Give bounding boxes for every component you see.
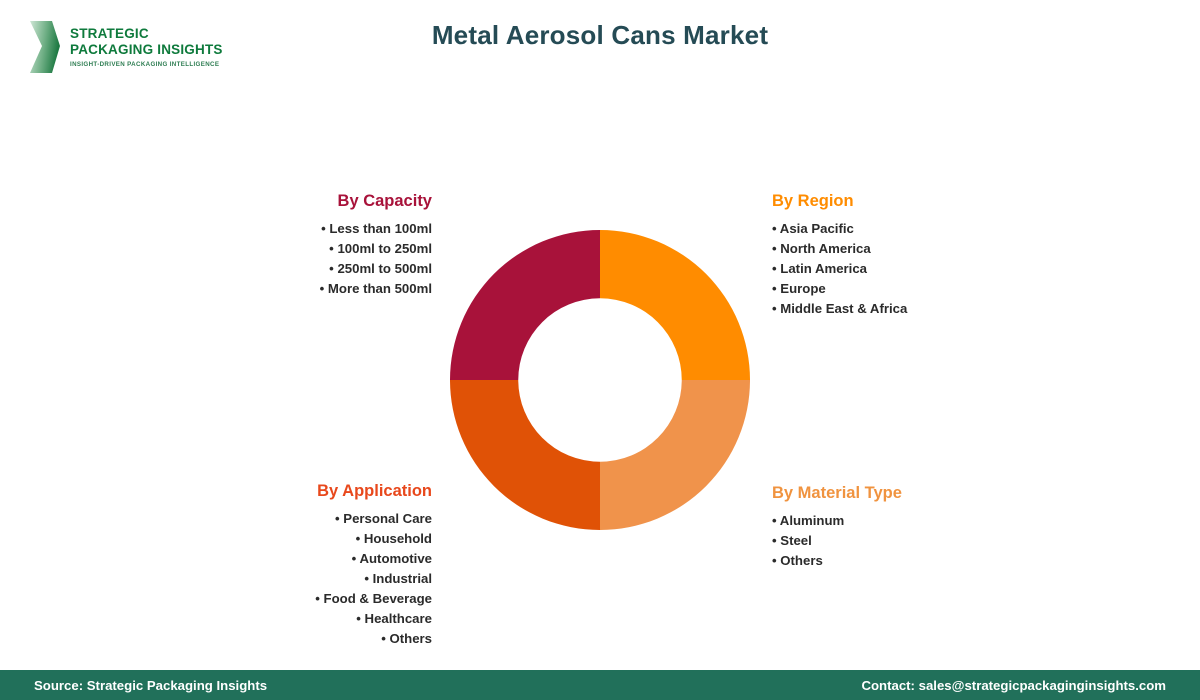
list-item: Automotive [180,549,432,569]
donut-slice [450,230,600,380]
segment-list-application: Personal CareHouseholdAutomotiveIndustri… [180,509,432,649]
footer-source: Source: Strategic Packaging Insights [34,678,267,693]
list-item: Healthcare [180,609,432,629]
segment-block-application: By Application Personal CareHouseholdAut… [180,482,432,649]
segment-title-material-type: By Material Type [772,484,1012,504]
list-item: Less than 100ml [230,219,432,239]
donut-slice [600,230,750,380]
list-item: 250ml to 500ml [230,259,432,279]
list-item: Personal Care [180,509,432,529]
list-item: Steel [772,531,1012,551]
list-item: Food & Beverage [180,589,432,609]
segment-block-region: By Region Asia PacificNorth AmericaLatin… [772,192,1012,319]
segment-list-material-type: AluminumSteelOthers [772,511,1012,571]
list-item: North America [772,239,1012,259]
footer-bar: Source: Strategic Packaging Insights Con… [0,670,1200,700]
donut-chart-svg [450,230,750,530]
segment-list-region: Asia PacificNorth AmericaLatin AmericaEu… [772,219,1012,319]
list-item: 100ml to 250ml [230,239,432,259]
list-item: More than 500ml [230,279,432,299]
list-item: Others [772,551,1012,571]
segment-block-material-type: By Material Type AluminumSteelOthers [772,484,1012,571]
list-item: Asia Pacific [772,219,1012,239]
list-item: Europe [772,279,1012,299]
list-item: Household [180,529,432,549]
donut-slice [450,380,600,530]
list-item: Industrial [180,569,432,589]
segment-title-capacity: By Capacity [230,192,432,212]
footer-contact: Contact: sales@strategicpackaginginsight… [861,678,1166,693]
logo-tagline: INSIGHT-DRIVEN PACKAGING INTELLIGENCE [70,61,223,68]
segment-block-capacity: By Capacity Less than 100ml100ml to 250m… [230,192,432,299]
list-item: Aluminum [772,511,1012,531]
list-item: Middle East & Africa [772,299,1012,319]
donut-slice [600,380,750,530]
donut-chart [450,230,750,530]
segment-title-application: By Application [180,482,432,502]
page-title: Metal Aerosol Cans Market [0,20,1200,51]
segment-title-region: By Region [772,192,1012,212]
list-item: Latin America [772,259,1012,279]
segment-list-capacity: Less than 100ml100ml to 250ml250ml to 50… [230,219,432,299]
list-item: Others [180,629,432,649]
